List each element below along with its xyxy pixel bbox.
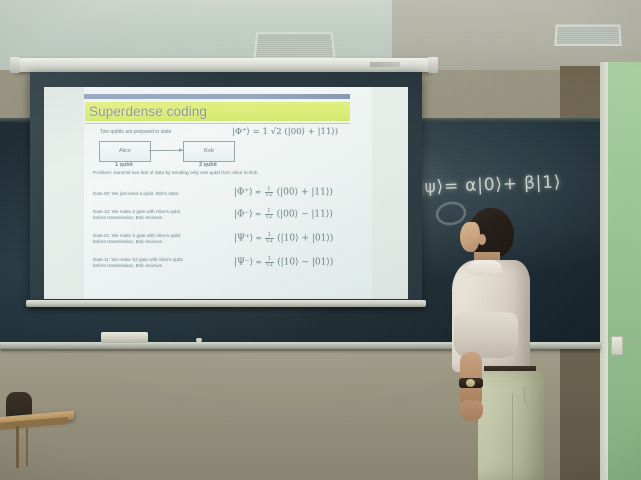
row-eq-body: (|00⟩ − |11⟩) (277, 210, 333, 220)
diagram-arrow-line (149, 150, 183, 151)
side-wall-green (608, 62, 641, 480)
slide-row-equation: |Φ⁻⟩ = 1 √2 (|00⟩ − |11⟩) (234, 209, 333, 220)
lecture-room-photo: |ψ⟩= α|0⟩+ β|1⟩ Superdense coding Two qu… (0, 0, 641, 480)
slide-row: Data 10: We make Z gate with Alice's qub… (93, 209, 221, 220)
desk-leg-secondary (26, 428, 28, 466)
lecturer-ear (478, 234, 486, 245)
roller-cap-left (10, 57, 20, 73)
row-eq-body: (|10⟩ + |01⟩) (277, 234, 333, 244)
row-desc-line1: Data 00: We just send a qubit. Bob's sta… (93, 191, 221, 197)
row-eq-fraction: 1 √2 (265, 257, 274, 268)
row-eq-denominator: √2 (265, 193, 274, 198)
trouser-crease (512, 393, 513, 480)
lecturer-collar (468, 260, 502, 276)
slide-intro-text: Two qubits are prepared in state (100, 129, 171, 135)
lecturer-hand (460, 400, 483, 421)
row-eq-equals: = (256, 234, 262, 243)
row-eq-fraction: 1 √2 (265, 233, 274, 244)
row-eq-denominator: √2 (265, 239, 274, 244)
main-eq-body: (|00⟩ + |11⟩) (284, 127, 338, 137)
lecturer (438, 208, 558, 480)
row-eq-ket: |Ψ⁻⟩ (234, 258, 253, 268)
row-eq-denominator: √2 (265, 215, 274, 220)
diagram-label-sender-qubits: 1 qubit (94, 162, 154, 168)
row-eq-ket: |Φ⁺⟩ (234, 188, 253, 198)
projector-screen-weight-bar (26, 300, 426, 307)
slide-title-rule (85, 123, 350, 124)
ceiling-vent-secondary-icon (554, 25, 621, 46)
row-eq-denominator: √2 (265, 263, 274, 268)
diagram-box-alice: Alice (99, 141, 151, 162)
row-eq-body: (|00⟩ + |11⟩) (277, 188, 333, 198)
desk-leg (16, 426, 19, 468)
diagram-label-receiver-qubits: 2 qubit (178, 162, 238, 168)
row-eq-ket: |Φ⁻⟩ (234, 210, 253, 220)
lecturer-sleeve (454, 312, 518, 358)
slide-title: Superdense coding (85, 102, 350, 121)
roller-cap-right (428, 57, 438, 73)
diagram-box-bob: Bob (183, 141, 235, 162)
slide-row-equation: |Ψ⁻⟩ = 1 √2 (|10⟩ − |01⟩) (234, 257, 333, 268)
main-eq-numerator: 1 (263, 127, 268, 137)
wristwatch-face (466, 379, 475, 387)
projected-slide: Superdense coding Two qubits are prepare… (44, 87, 408, 299)
main-eq-fraction: 1 √2 (263, 127, 285, 137)
row-desc-line2: before transmission. Bob recieves (93, 215, 221, 221)
row-eq-equals: = (255, 188, 261, 197)
slide-row: Data 11: We make XZ gate with Alice's qu… (93, 257, 221, 268)
row-eq-fraction: 1 √2 (265, 209, 274, 220)
row-eq-ket: |Ψ⁺⟩ (234, 234, 253, 244)
main-eq-denominator: √2 (271, 127, 282, 137)
slide-row: Data 01: We make X gate with Alice's qub… (93, 233, 221, 244)
switch-plate (623, 340, 639, 344)
row-eq-equals: = (255, 210, 261, 219)
trouser-pocket (524, 386, 541, 408)
blackboard-eraser[interactable] (101, 332, 148, 343)
main-eq-ket: |Φ⁺⟩ (232, 127, 250, 137)
slide-accent-bar (84, 94, 350, 99)
slide-main-equation: |Φ⁺⟩ = 1 √2 (|00⟩ + |11⟩) (232, 127, 338, 137)
slide-row-equation: |Ψ⁺⟩ = 1 √2 (|10⟩ + |01⟩) (234, 233, 333, 244)
row-eq-equals: = (256, 258, 262, 267)
ceiling-vent-icon (254, 32, 336, 59)
row-desc-line2: before transmission. Bob recieves (93, 239, 221, 245)
chalk-stick[interactable] (196, 338, 202, 342)
row-desc-line2: before transmission. Bob recieves (93, 263, 221, 269)
row-eq-fraction: 1 √2 (265, 187, 274, 198)
main-eq-equals: = (253, 127, 260, 137)
light-switch[interactable] (611, 336, 623, 355)
roller-brand-label (370, 62, 400, 67)
slide-row-equation: |Φ⁺⟩ = 1 √2 (|00⟩ + |11⟩) (234, 187, 333, 198)
slide-problem-text: Problem: transmit two bits of data by se… (93, 171, 258, 177)
slide-row: Data 00: We just send a qubit. Bob's sta… (93, 191, 221, 197)
lecturer-face (460, 222, 480, 252)
row-eq-body: (|10⟩ − |01⟩) (277, 258, 333, 268)
